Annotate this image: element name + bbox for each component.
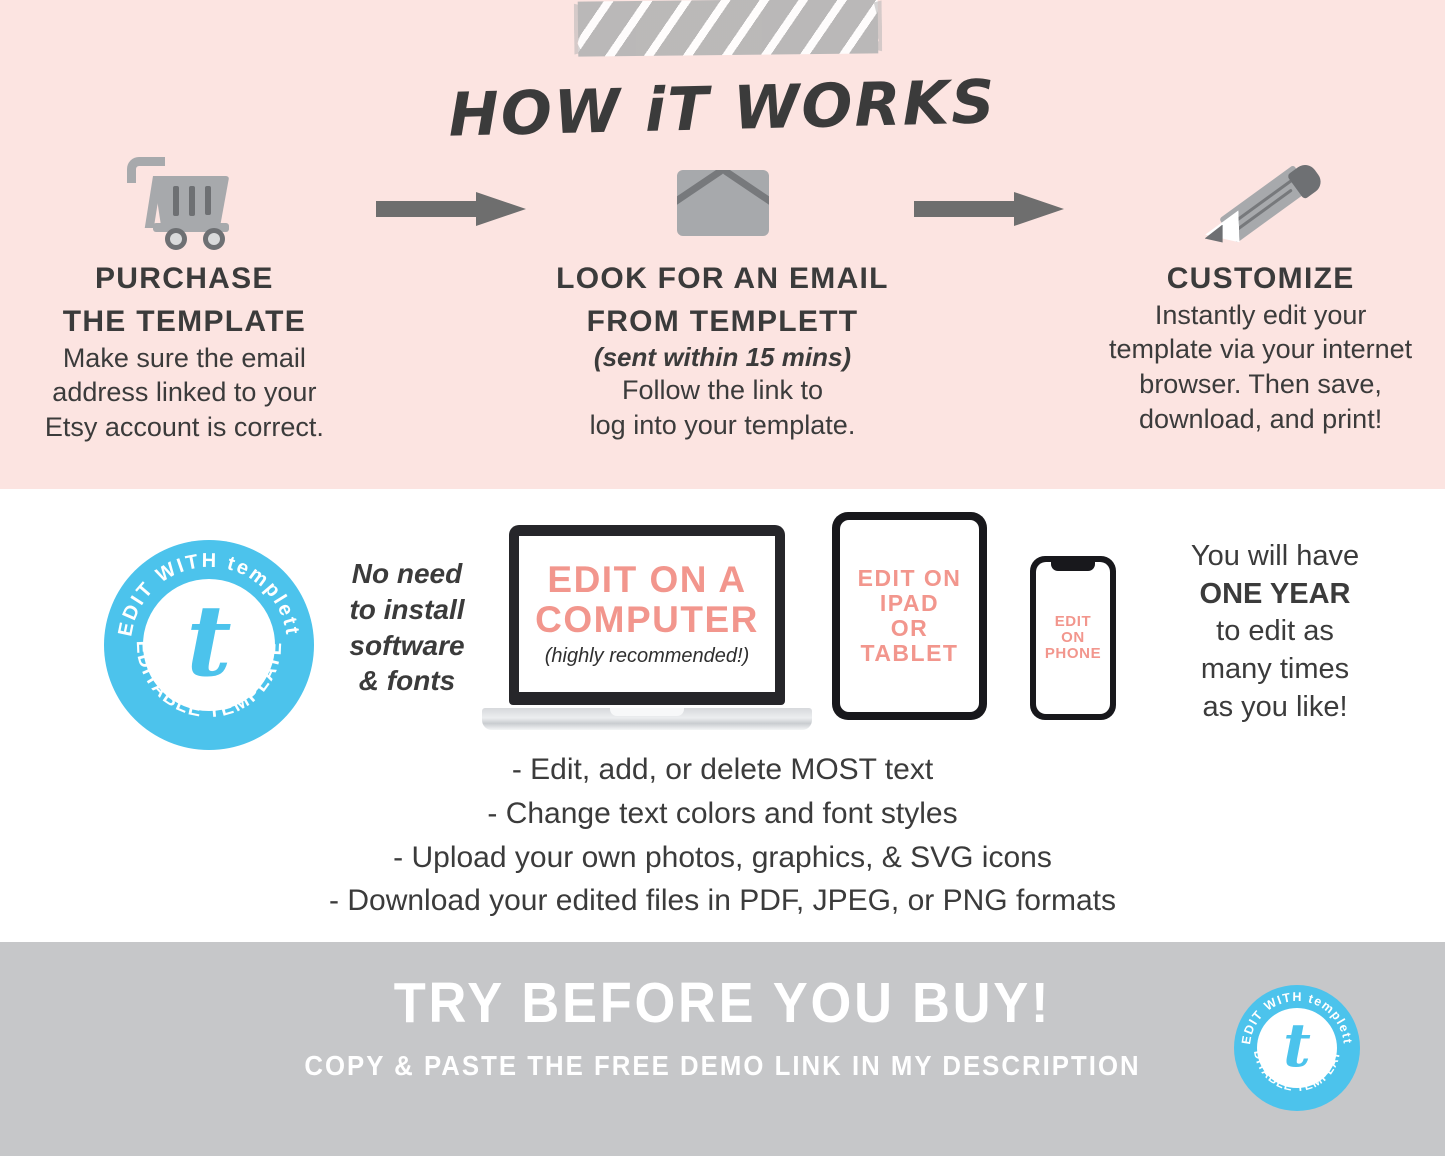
step-1-title-line2: THE TEMPLATE [0, 304, 369, 341]
banner-subtitle: COPY & PASTE THE FREE DEMO LINK IN MY DE… [58, 1050, 1387, 1082]
svg-text:EDIT WITH templett: EDIT WITH templett [114, 550, 303, 638]
one-year-line4: many times [1125, 651, 1425, 689]
step-2-body-line1: Follow the link to [538, 373, 907, 408]
arrow-right-icon-2 [907, 150, 1076, 226]
phone-title-line2: ON [1045, 630, 1101, 646]
step-3-body-line4: download, and print! [1076, 402, 1445, 437]
no-install-line4: & fonts [332, 663, 482, 699]
shopping-cart-icon [0, 150, 369, 255]
step-customize: CUSTOMIZE Instantly edit your template v… [1076, 150, 1445, 436]
step-3-body-line1: Instantly edit your [1076, 298, 1445, 333]
list-item: - Upload your own photos, graphics, & SV… [0, 836, 1445, 880]
svg-text:EDIT WITH templett: EDIT WITH templett [1239, 990, 1355, 1045]
step-1-body-line3: Etsy account is correct. [0, 410, 369, 445]
step-2-title-line1: LOOK FOR AN EMAIL [538, 261, 907, 298]
arrow-right-icon-1 [369, 150, 538, 226]
laptop-title-line2: COMPUTER [535, 600, 759, 640]
washi-tape-icon [578, 0, 879, 57]
one-year-line5: as you like! [1125, 689, 1425, 727]
phone-title-line3: PHONE [1045, 646, 1101, 662]
laptop-mockup: EDIT ON A COMPUTER (highly recommended!) [482, 525, 812, 730]
svg-text:EDITABLE TEMPLATE: EDITABLE TEMPLATE [132, 640, 286, 722]
no-install-note: No need to install software & fonts [332, 556, 482, 699]
step-1-body-line1: Make sure the email [0, 341, 369, 376]
laptop-title-line1: EDIT ON A [547, 560, 746, 600]
page-title: HOW iT WORKS [0, 56, 1445, 161]
banner-title: TRY BEFORE YOU BUY! [58, 970, 1387, 1036]
how-it-works-section: HOW iT WORKS PURCHASE THE TEMPLATE Make … [0, 0, 1445, 489]
step-3-body-line3: browser. Then save, [1076, 367, 1445, 402]
one-year-note: You will have ONE YEAR to edit as many t… [1125, 538, 1425, 726]
laptop-base [482, 708, 812, 730]
templett-badge-large: EDIT WITH templett EDITABLE TEMPLATE t [104, 540, 314, 750]
list-item: - Download your edited files in PDF, JPE… [0, 879, 1445, 923]
tablet-title-line4: TABLET [858, 641, 962, 666]
step-3-title-line1: CUSTOMIZE [1076, 261, 1445, 298]
laptop-subtitle: (highly recommended!) [545, 645, 750, 668]
badge-small-top-text: EDIT WITH templett [1239, 990, 1355, 1045]
badge-bottom-text: EDITABLE TEMPLATE [132, 640, 286, 722]
no-install-line3: software [332, 628, 482, 664]
phone-screen: EDIT ON PHONE [1036, 562, 1110, 714]
step-look-for-email: LOOK FOR AN EMAIL FROM TEMPLETT (sent wi… [538, 150, 907, 442]
tablet-title-line1: EDIT ON [858, 566, 962, 591]
tablet-screen: EDIT ON IPAD OR TABLET [840, 520, 979, 712]
one-year-line1: You will have [1125, 538, 1425, 576]
step-1-title-line1: PURCHASE [0, 261, 369, 298]
laptop-lid: EDIT ON A COMPUTER (highly recommended!) [509, 525, 785, 705]
tablet-title-line2: IPAD [858, 591, 962, 616]
tablet-mockup: EDIT ON IPAD OR TABLET [832, 512, 987, 720]
tablet-title-line3: OR [858, 616, 962, 641]
one-year-line3: to edit as [1125, 613, 1425, 651]
phone-notch [1051, 562, 1095, 571]
step-3-body-line2: template via your internet [1076, 332, 1445, 367]
templett-badge-small: EDIT WITH templett EDITABLE TEMPLATE t [1234, 985, 1360, 1111]
list-item: - Change text colors and font styles [0, 792, 1445, 836]
no-install-line2: to install [332, 592, 482, 628]
step-2-title-line2: FROM TEMPLETT [538, 304, 907, 341]
feature-list: - Edit, add, or delete MOST text - Chang… [0, 748, 1445, 923]
step-1-body-line2: address linked to your [0, 375, 369, 410]
try-before-buy-banner: TRY BEFORE YOU BUY! COPY & PASTE THE FRE… [0, 942, 1445, 1156]
phone-title-line1: EDIT [1045, 614, 1101, 630]
badge-top-text: EDIT WITH templett [114, 550, 303, 638]
envelope-icon [538, 150, 907, 255]
laptop-screen: EDIT ON A COMPUTER (highly recommended!) [519, 536, 775, 692]
phone-mockup: EDIT ON PHONE [1030, 556, 1116, 720]
step-2-italic-note: (sent within 15 mins) [538, 341, 907, 374]
list-item: - Edit, add, or delete MOST text [0, 748, 1445, 792]
pencil-icon [1076, 150, 1445, 255]
step-purchase: PURCHASE THE TEMPLATE Make sure the emai… [0, 150, 369, 444]
step-2-body-line2: log into your template. [538, 408, 907, 443]
steps-row: PURCHASE THE TEMPLATE Make sure the emai… [0, 150, 1445, 460]
one-year-highlight: ONE YEAR [1200, 578, 1351, 610]
no-install-line1: No need [332, 556, 482, 592]
